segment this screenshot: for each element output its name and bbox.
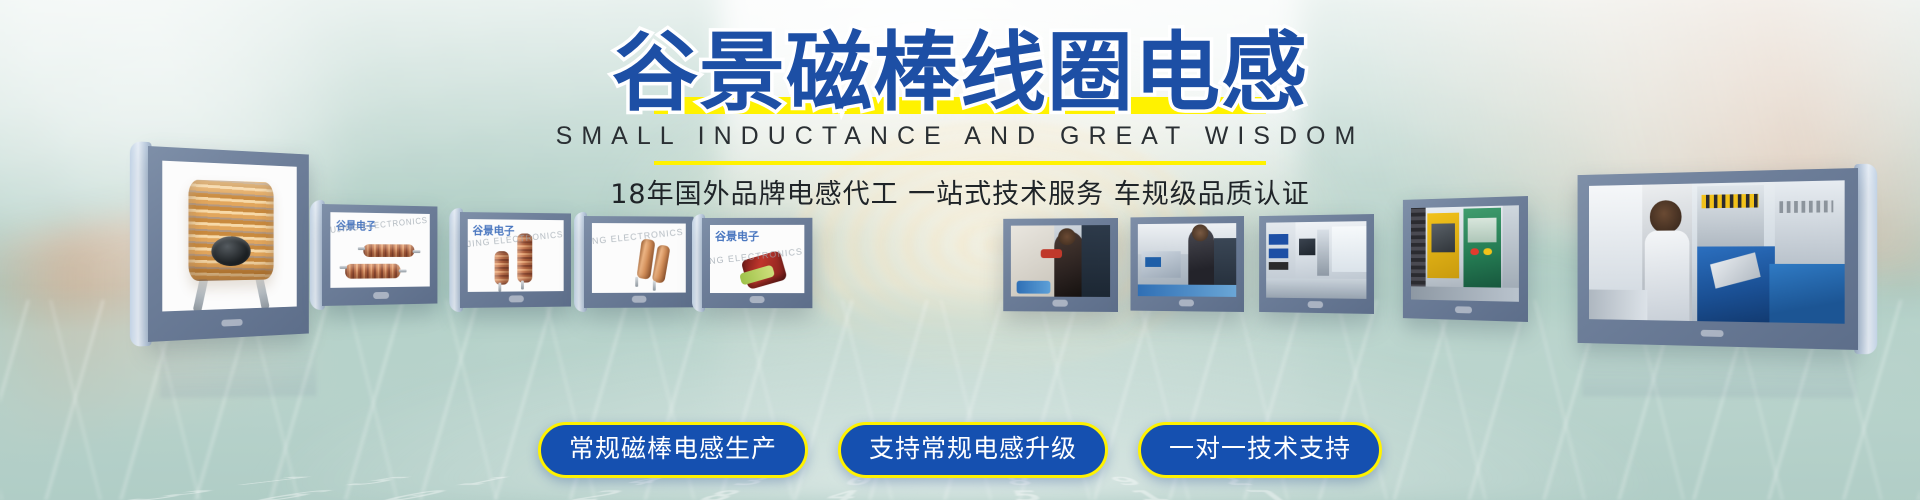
panel-rod-inductors-pair[interactable]: 谷景电子 SUZHOU GUJING ELECTRONICS [322, 204, 437, 306]
tagline-chinese: 18年国外品牌电感代工 一站式技术服务 车规级品质认证 [0, 172, 1920, 211]
panel-screen: 谷景电子 SUZHOU GUJING ELECTRONICS [710, 225, 804, 293]
subtitle-english: SMALL INDUCTANCE AND GREAT WISDOM [0, 122, 1920, 151]
panel-indicator-nub [632, 296, 647, 303]
panel-screen: SUZHOU GUJING ELECTRONICS [592, 223, 686, 293]
panel-indicator-nub [1052, 300, 1068, 307]
panel-indicator-nub [1179, 299, 1194, 306]
panel-screen [1138, 223, 1236, 297]
headline-text: 谷景磁棒线圈电感 [612, 23, 1308, 123]
panel-automated-line[interactable] [1259, 214, 1374, 314]
yellow-divider-rule [654, 161, 1266, 165]
panel-reflection-right [1582, 352, 1856, 398]
panel-indicator-nub [1455, 306, 1472, 313]
panel-press-machine[interactable] [1403, 196, 1528, 322]
panel-screen [1011, 225, 1110, 297]
pill-regular-rod-inductor-production[interactable]: 常规磁棒电感生产 [538, 422, 808, 478]
panel-indicator-nub [1701, 330, 1724, 337]
panel-copper-rods[interactable]: SUZHOU GUJING ELECTRONICS [584, 216, 694, 308]
pill-one-to-one-tech-support[interactable]: 一对一技术支持 [1138, 422, 1382, 478]
panel-screen: 谷景电子 SUZHOU GUJING ELECTRONICS [330, 212, 429, 288]
panel-indicator-nub [750, 296, 765, 303]
page-title: 谷景磁棒线圈电感 [612, 26, 1308, 120]
pill-support-inductor-upgrade[interactable]: 支持常规电感升级 [838, 422, 1108, 478]
panel-screen [1411, 205, 1519, 302]
panel-screen [1266, 221, 1366, 299]
headline-block: 谷景磁棒线圈电感 SMALL INDUCTANCE AND GREAT WISD… [0, 26, 1920, 211]
panel-indicator-nub [221, 319, 242, 327]
screen-watermark-cn: 谷景电子 [715, 231, 759, 243]
panel-indicator-nub [509, 295, 524, 302]
panel-rod-inductors-trio[interactable]: 谷景电子 SUZHOU GUJING ELECTRONICS [460, 212, 571, 308]
panel-screen: 谷景电子 SUZHOU GUJING ELECTRONICS [468, 219, 564, 292]
promo-banner: 7 5 1 4 3 0 8 9 2 3 6 0 2 8 4 5 1 7 9 4 … [0, 0, 1920, 500]
panel-indicator-nub [373, 292, 389, 299]
feature-pill-row: 常规磁棒电感生产 支持常规电感升级 一对一技术支持 [0, 422, 1920, 478]
panel-indicator-nub [1308, 301, 1323, 308]
panel-workshop-assembly[interactable] [1003, 218, 1118, 312]
panel-testing-station[interactable] [1130, 216, 1244, 312]
panel-reflection-left [160, 344, 316, 398]
panel-shielded-inductor[interactable]: 谷景电子 SUZHOU GUJING ELECTRONICS [702, 218, 812, 308]
